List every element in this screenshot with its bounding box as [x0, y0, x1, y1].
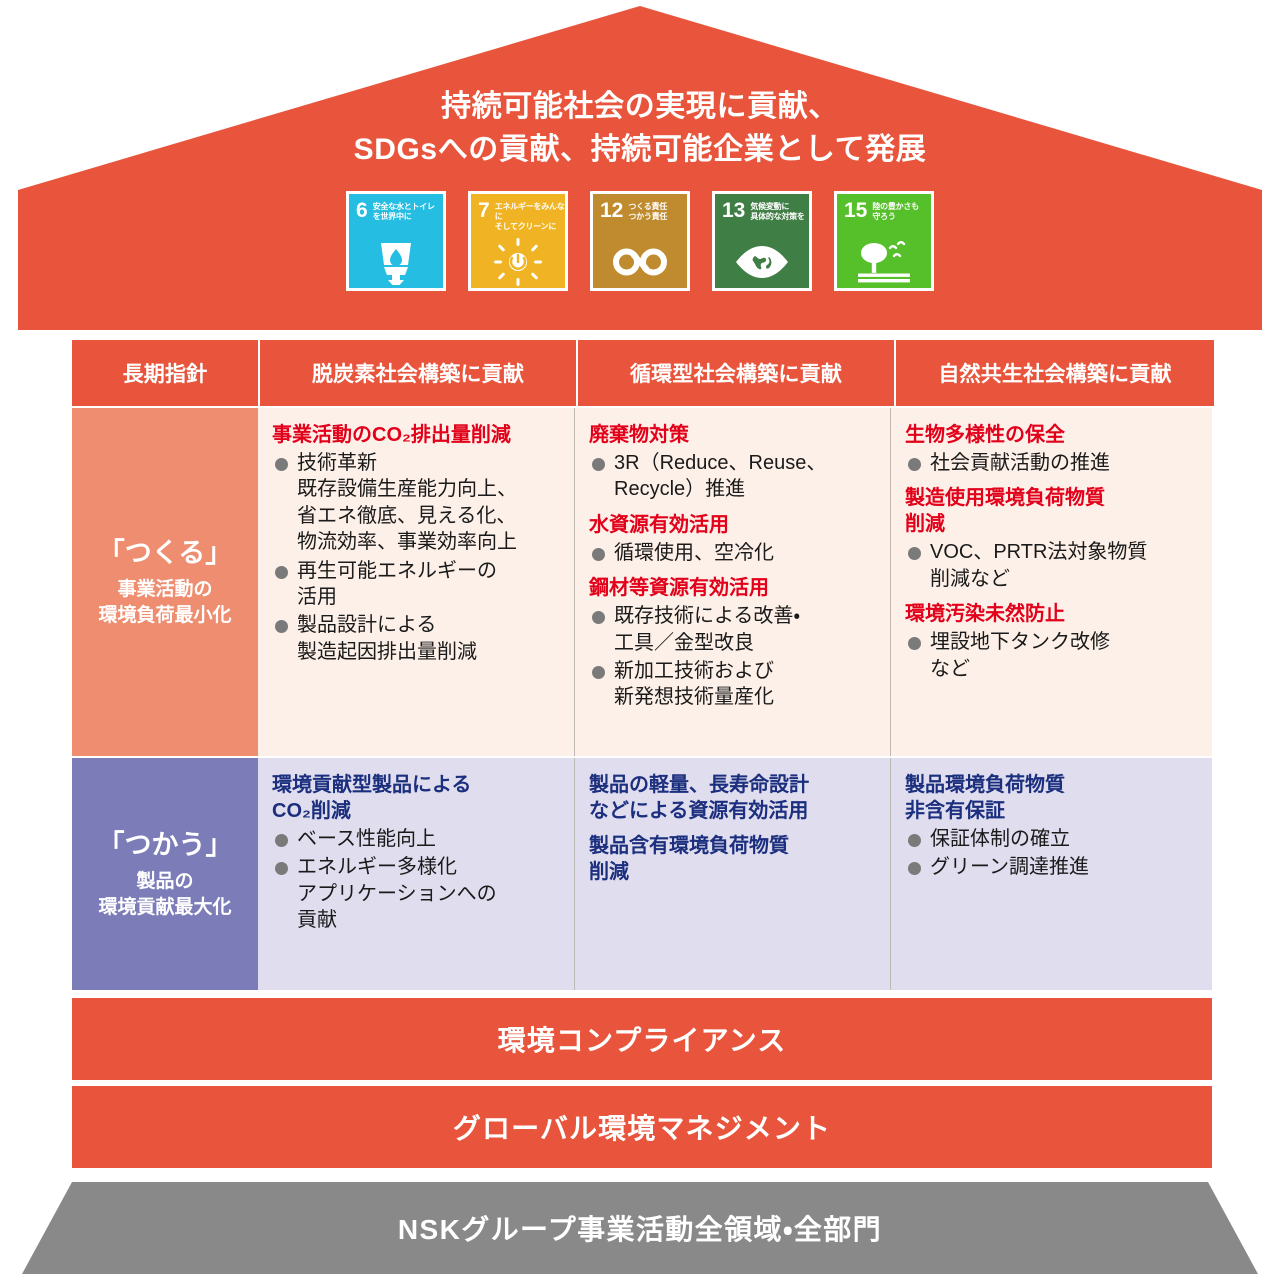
sdg-icon-7: 7エネルギーをみんなに そしてクリーンに	[468, 191, 568, 291]
water-glass-icon	[349, 236, 443, 288]
cell-heading: 環境汚染未然防止	[905, 601, 1196, 627]
sdg-icon-12-title: つくる責任 つかう責任	[628, 201, 667, 222]
list-item: 保証体制の確立	[905, 826, 1196, 852]
cell-heading: 生物多様性の保全	[905, 422, 1196, 448]
foundation-base: NSKグループ事業活動全領域・全部門	[0, 1182, 1280, 1274]
cell-heading: 製品含有環境負荷物質 削減	[589, 833, 878, 885]
cell-group: 事業活動のCO₂排出量削減技術革新 既存設備生産能力向上、 省エネ徹底、見える化…	[272, 422, 562, 665]
sdg-icon-6-header: 6安全な水とトイレ を世界中に	[349, 194, 443, 222]
cell-heading: 事業活動のCO₂排出量削減	[272, 422, 562, 448]
matrix-row-tsukau: 「つかう」 製品の 環境貢献最大化 環境貢献型製品による CO₂削減ベース性能向…	[72, 758, 1212, 990]
bullet-list: 3R（Reduce、Reuse、 Recycle）推進	[589, 450, 878, 503]
sdg-icon-6-number: 6	[356, 201, 368, 220]
list-item: 埋設地下タンク改修 など	[905, 629, 1196, 682]
bar-environmental-compliance: 環境コンプライアンス	[72, 998, 1212, 1080]
cell-heading: 環境貢献型製品による CO₂削減	[272, 772, 562, 824]
sdg-icon-12-number: 12	[600, 201, 623, 220]
header-cell-nature-coexistence-society: 自然共生社会構築に貢献	[896, 340, 1214, 406]
sdg-icon-7-number: 7	[478, 201, 490, 220]
cell-heading: 水資源有効活用	[589, 512, 878, 538]
cell-group: 製品環境負荷物質 非含有保証保証体制の確立グリーン調達推進	[905, 772, 1196, 881]
list-item: 製品設計による 製造起因排出量削減	[272, 612, 562, 665]
row-tsukau-cells: 環境貢献型製品による CO₂削減ベース性能向上エネルギー多様化 アプリケーション…	[258, 758, 1212, 990]
sdg-icon-6: 6安全な水とトイレ を世界中に	[346, 191, 446, 291]
cell-heading: 製造使用環境負荷物質 削減	[905, 485, 1196, 537]
sdg-icon-15-number: 15	[844, 201, 867, 220]
bullet-list: 既存技術による改善・ 工具／金型改良新加工技術および 新発想技術量産化	[589, 603, 878, 711]
cell-tsukau-col1: 環境貢献型製品による CO₂削減ベース性能向上エネルギー多様化 アプリケーション…	[258, 758, 574, 990]
cell-group: 生物多様性の保全社会貢献活動の推進	[905, 422, 1196, 476]
list-item: 新加工技術および 新発想技術量産化	[589, 658, 878, 711]
row-label-tsukau: 「つかう」 製品の 環境貢献最大化	[72, 758, 258, 990]
cell-group: 廃棄物対策3R（Reduce、Reuse、 Recycle）推進	[589, 422, 878, 503]
bullet-list: 埋設地下タンク改修 など	[905, 629, 1196, 682]
cell-group: 水資源有効活用循環使用、空冷化	[589, 512, 878, 566]
cell-group: 鋼材等資源有効活用既存技術による改善・ 工具／金型改良新加工技術および 新発想技…	[589, 575, 878, 711]
list-item: エネルギー多様化 アプリケーションへの 貢献	[272, 854, 562, 933]
list-item: 既存技術による改善・ 工具／金型改良	[589, 603, 878, 656]
header-cell-decarbonized-society: 脱炭素社会構築に貢献	[260, 340, 576, 406]
sdg-icon-12-header: 12つくる責任 つかう責任	[593, 194, 687, 222]
eye-globe-icon	[715, 236, 809, 288]
bar-global-environmental-management: グローバル環境マネジメント	[72, 1086, 1212, 1168]
matrix-row-tsukuru: 「つくる」 事業活動の 環境負荷最小化 事業活動のCO₂排出量削減技術革新 既存…	[72, 408, 1212, 756]
foundation-base-label: NSKグループ事業活動全領域・全部門	[398, 1208, 882, 1248]
sdg-icon-7-title: エネルギーをみんなに そしてクリーンに	[495, 201, 565, 231]
bullet-list: 循環使用、空冷化	[589, 540, 878, 566]
bullet-list: 保証体制の確立グリーン調達推進	[905, 826, 1196, 881]
roof-headline-line-1: 持続可能社会の実現に貢献、	[441, 86, 839, 129]
cell-tsukau-col2: 製品の軽量、長寿命設計 などによる資源有効活用製品含有環境負荷物質 削減	[574, 758, 890, 990]
sdg-icon-7-header: 7エネルギーをみんなに そしてクリーンに	[471, 194, 565, 231]
list-item: グリーン調達推進	[905, 854, 1196, 880]
cell-group: 製品の軽量、長寿命設計 などによる資源有効活用	[589, 772, 878, 824]
cell-tsukuru-col1: 事業活動のCO₂排出量削減技術革新 既存設備生産能力向上、 省エネ徹底、見える化…	[258, 408, 574, 756]
bullet-list: 社会貢献活動の推進	[905, 450, 1196, 476]
header-cell-recycling-society: 循環型社会構築に貢献	[578, 340, 894, 406]
sdg-icon-6-title: 安全な水とトイレ を世界中に	[373, 201, 435, 222]
cell-tsukau-col3: 製品環境負荷物質 非含有保証保証体制の確立グリーン調達推進	[890, 758, 1208, 990]
list-item: 技術革新 既存設備生産能力向上、 省エネ徹底、見える化、 物流効率、事業効率向上	[272, 450, 562, 556]
matrix-header-row: 長期指針 脱炭素社会構築に貢献 循環型社会構築に貢献 自然共生社会構築に貢献	[72, 340, 1212, 406]
bullet-list: ベース性能向上エネルギー多様化 アプリケーションへの 貢献	[272, 826, 562, 934]
cell-group: 製品含有環境負荷物質 削減	[589, 833, 878, 885]
roof-headline-line-2: SDGsへの貢献、持続可能企業として発展	[354, 129, 927, 172]
sdg-icon-15: 15陸の豊かさも 守ろう	[834, 191, 934, 291]
sdg-icon-13-number: 13	[722, 201, 745, 220]
infinity-icon	[593, 236, 687, 288]
row-tsukuru-cells: 事業活動のCO₂排出量削減技術革新 既存設備生産能力向上、 省エネ徹底、見える化…	[258, 408, 1212, 756]
tree-birds-icon	[837, 236, 931, 288]
header-cell-long-term-policy: 長期指針	[72, 340, 258, 406]
list-item: 社会貢献活動の推進	[905, 450, 1196, 476]
cell-heading: 鋼材等資源有効活用	[589, 575, 878, 601]
cell-tsukuru-col3: 生物多様性の保全社会貢献活動の推進製造使用環境負荷物質 削減VOC、PRTR法対…	[890, 408, 1208, 756]
row-label-tsukau-title: 「つかう」	[98, 828, 233, 863]
row-label-tsukuru-title: 「つくる」	[98, 536, 232, 571]
sdg-icon-row: 6安全な水とトイレ を世界中に7エネルギーをみんなに そしてクリーンに12つくる…	[346, 191, 934, 291]
sdg-icon-13: 13気候変動に 具体的な対策を	[712, 191, 812, 291]
sdg-icon-15-header: 15陸の豊かさも 守ろう	[837, 194, 931, 222]
bullet-list: VOC、PRTR法対象物質 削減など	[905, 539, 1196, 592]
roof-content: 持続可能社会の実現に貢献、 SDGsへの貢献、持続可能企業として発展 6安全な水…	[0, 0, 1280, 332]
list-item: VOC、PRTR法対象物質 削減など	[905, 539, 1196, 592]
list-item: 再生可能エネルギーの 活用	[272, 558, 562, 611]
row-label-tsukau-subtitle: 製品の 環境貢献最大化	[98, 869, 231, 921]
cell-heading: 製品の軽量、長寿命設計 などによる資源有効活用	[589, 772, 878, 824]
list-item: 循環使用、空冷化	[589, 540, 878, 566]
row-label-tsukuru-subtitle: 事業活動の 環境負荷最小化	[98, 577, 231, 629]
sdg-icon-13-header: 13気候変動に 具体的な対策を	[715, 194, 809, 222]
sun-power-icon	[471, 236, 565, 288]
sdg-icon-12: 12つくる責任 つかう責任	[590, 191, 690, 291]
cell-group: 環境貢献型製品による CO₂削減ベース性能向上エネルギー多様化 アプリケーション…	[272, 772, 562, 934]
row-label-tsukuru: 「つくる」 事業活動の 環境負荷最小化	[72, 408, 258, 756]
cell-heading: 廃棄物対策	[589, 422, 878, 448]
sdg-icon-15-title: 陸の豊かさも 守ろう	[872, 201, 919, 222]
cell-group: 製造使用環境負荷物質 削減VOC、PRTR法対象物質 削減など	[905, 485, 1196, 592]
list-item: ベース性能向上	[272, 826, 562, 852]
cell-heading: 製品環境負荷物質 非含有保証	[905, 772, 1196, 824]
bullet-list: 技術革新 既存設備生産能力向上、 省エネ徹底、見える化、 物流効率、事業効率向上…	[272, 450, 562, 665]
roof-section: 持続可能社会の実現に貢献、 SDGsへの貢献、持続可能企業として発展 6安全な水…	[0, 0, 1280, 332]
cell-tsukuru-col2: 廃棄物対策3R（Reduce、Reuse、 Recycle）推進水資源有効活用循…	[574, 408, 890, 756]
sdg-icon-13-title: 気候変動に 具体的な対策を	[750, 201, 804, 222]
list-item: 3R（Reduce、Reuse、 Recycle）推進	[589, 450, 878, 503]
strategy-matrix: 長期指針 脱炭素社会構築に貢献 循環型社会構築に貢献 自然共生社会構築に貢献 「…	[72, 340, 1212, 990]
cell-group: 環境汚染未然防止埋設地下タンク改修 など	[905, 601, 1196, 682]
